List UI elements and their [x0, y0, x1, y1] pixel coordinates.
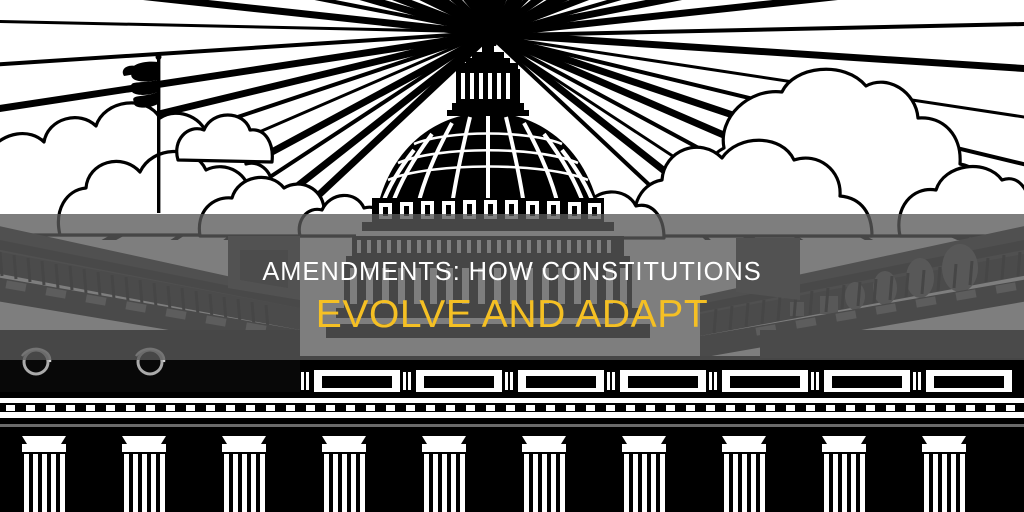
facade-balustrade	[0, 356, 1024, 430]
banner-title: AMENDMENTS: HOW CONSTITUTIONS EVOLVE AND…	[0, 255, 1024, 339]
column-shafts	[24, 454, 965, 512]
corinthian-capitals	[22, 436, 966, 452]
title-line-2: EVOLVE AND ADAPT	[0, 291, 1024, 339]
sunburst-ray	[487, 0, 494, 34]
banner-image: AMENDMENTS: HOW CONSTITUTIONS EVOLVE AND…	[0, 0, 1024, 512]
corinthian-colonnade	[0, 430, 1024, 512]
title-line-1: AMENDMENTS: HOW CONSTITUTIONS	[0, 255, 1024, 289]
sky-background	[0, 0, 1024, 240]
